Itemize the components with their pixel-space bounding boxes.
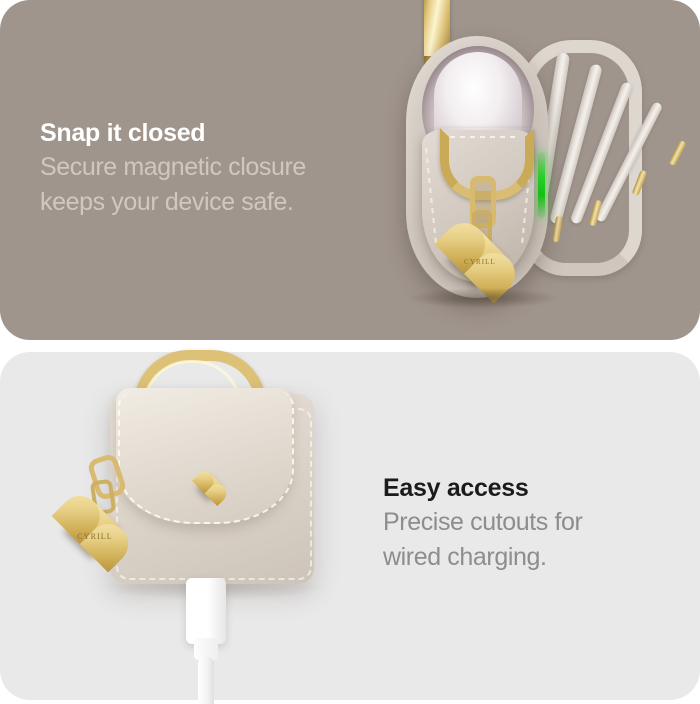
charging-cable-cord: [198, 656, 214, 704]
brand-engraving: CYRILL: [66, 532, 124, 541]
copy-block-easy-access: Easy access Precise cutouts for wired ch…: [383, 473, 653, 575]
headline-snap-it-closed: Snap it closed: [40, 118, 380, 148]
flap-stitching: [118, 392, 294, 524]
subline-line-1: Precise cutouts for: [383, 505, 653, 540]
product-drop-shadow: [408, 288, 558, 308]
brand-engraving: CYRILL: [452, 258, 508, 266]
headline-easy-access: Easy access: [383, 473, 653, 503]
charging-cable-connector: [186, 578, 226, 644]
tassel-fringe: [532, 44, 700, 284]
subline-line-1: Secure magnetic closure: [40, 150, 380, 185]
subline-line-2: wired charging.: [383, 540, 653, 575]
charging-led-indicator: [538, 152, 545, 218]
tassel-cap-icon: [632, 170, 648, 197]
tassel-cap-icon: [668, 140, 686, 166]
product-photo-open-case: CYRILL: [380, 0, 700, 340]
panel-snap-it-closed: CYRILL Snap it closed Secure magnetic cl…: [0, 0, 700, 340]
subline-line-2: keeps your device safe.: [40, 185, 380, 220]
tassel-strand: [595, 101, 664, 223]
copy-block-snap-it-closed: Snap it closed Secure magnetic closure k…: [40, 118, 380, 220]
product-feature-collage: CYRILL Snap it closed Secure magnetic cl…: [0, 0, 700, 700]
product-photo-closed-case: CYRILL: [30, 352, 390, 700]
